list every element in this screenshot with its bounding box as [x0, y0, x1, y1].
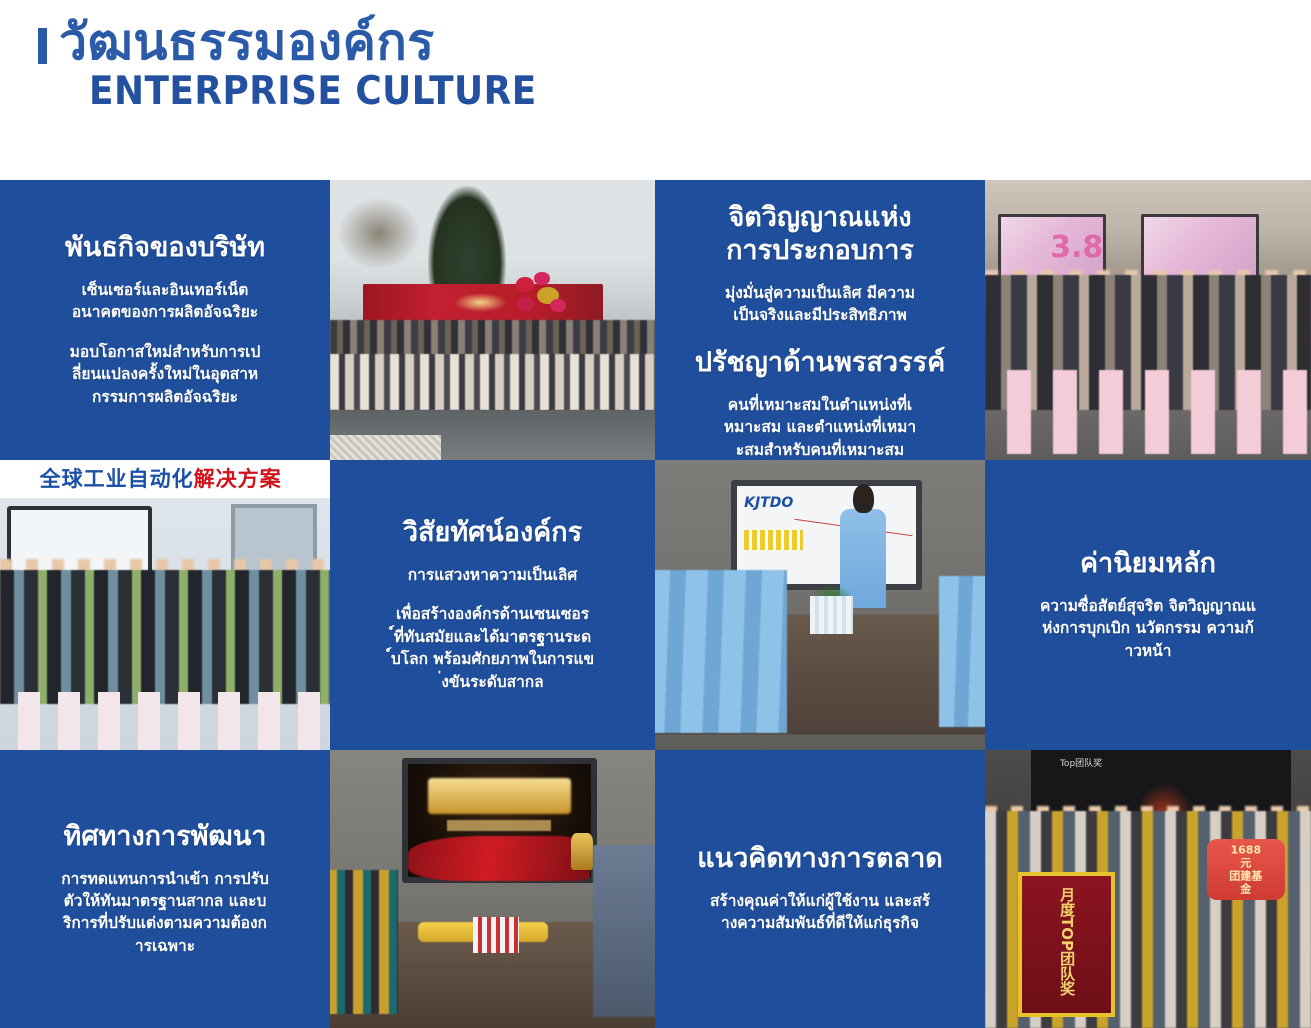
core-values-body: ความซื่อสัตย์สุจริต จิตวิญญาณแ ห่งการบุก…	[1040, 595, 1256, 662]
training-image: KJTDO	[655, 460, 985, 750]
culture-grid: พันธกิจของบริษัท เซ็นเซอร์และอินเทอร์เน็…	[0, 180, 1311, 1028]
marketing-body: สร้างคุณค่าให้แก่ผู้ใช้งาน และสร้ างความ…	[710, 890, 930, 935]
photo-award-pennant: 月度TOP团队奖	[1018, 872, 1116, 1017]
womens-day-image: 3.8	[985, 180, 1311, 460]
page-title-english: ENTERPRISE CULTURE	[89, 72, 537, 113]
photo-gift-bags	[985, 370, 1311, 454]
marketing-title: แนวคิดทางการตลาด	[697, 843, 943, 876]
panel-development-direction: ทิศทางการพัฒนา การทดแทนการนำเข้า การปรับ…	[0, 750, 330, 1028]
photo-screen-logo: KJTDO	[744, 495, 793, 511]
photo-banner-text: 全球工业自动化解决方案	[40, 463, 282, 493]
photo-screen-products	[744, 530, 803, 550]
photo-people-left	[330, 870, 398, 1015]
photo-people	[0, 570, 330, 703]
development-title: ทิศทางการพัฒนา	[64, 821, 267, 854]
photo-trophy	[571, 833, 594, 869]
photo-gift-bags	[0, 692, 330, 750]
photo-birthday: 全球工业自动化解决方案	[0, 460, 330, 750]
header-titles: วัฒนธรรมองค์กร ENTERPRISE CULTURE	[59, 14, 576, 113]
panel-entrepreneurial-spirit: จิตวิญญาณแห่ง การประกอบการ มุ่งมั่นสู่คว…	[655, 180, 985, 460]
award-ceremony-image	[330, 750, 655, 1028]
vision-title: วิสัยทัศน์องค์กร	[403, 517, 582, 550]
page-header: วัฒนธรรมองค์กร ENTERPRISE CULTURE	[0, 0, 1311, 180]
photo-gravel	[330, 435, 441, 460]
pennant-text: 月度TOP团队奖	[1058, 887, 1075, 996]
page-title-thai: วัฒนธรรมองค์กร	[59, 14, 576, 70]
enterprise-culture-page: วัฒนธรรมองค์กร ENTERPRISE CULTURE พันธกิ…	[0, 0, 1311, 1028]
photo-team-award: Top团队奖 月度TOP团队奖 1688元 团建基金	[985, 750, 1311, 1028]
spirit-title: จิตวิญญาณแห่ง การประกอบการ	[726, 202, 914, 268]
mission-title: พันธกิจของบริษัท	[65, 232, 265, 265]
photo-screen-label: Top团队奖	[1060, 756, 1102, 769]
photo-group-2023	[330, 180, 655, 460]
photo-bush	[337, 197, 422, 270]
panel-marketing-concept: แนวคิดทางการตลาด สร้างคุณค่าให้แก่ผู้ใช้…	[655, 750, 985, 1028]
panel-company-mission: พันธกิจของบริษัท เซ็นเซอร์และอินเทอร์เน็…	[0, 180, 330, 460]
photo-attendees-left	[655, 570, 787, 732]
panel-core-values: ค่านิยมหลัก ความซื่อสัตย์สุจริต จิตวิญญา…	[985, 460, 1311, 750]
team-award-image: Top团队奖 月度TOP团队奖 1688元 团建基金	[985, 750, 1311, 1028]
photo-screen-subtitle	[447, 820, 551, 831]
talent-philosophy-body: คนที่เหมาะสมในตำแหน่งที่เ หมาะสม และตำแห…	[724, 394, 916, 460]
banner-text-red: 解决方案	[194, 467, 282, 491]
photo-womens-day: 3.8	[985, 180, 1311, 460]
group-photo-image	[330, 180, 655, 460]
photo-red-silk	[408, 836, 590, 880]
photo-training: KJTDO	[655, 460, 985, 750]
photo-screen-text: 3.8	[1050, 230, 1103, 265]
core-values-title: ค่านิยมหลัก	[1080, 548, 1216, 581]
photo-screen-title-glow	[428, 778, 571, 814]
photo-crowd-front	[330, 354, 655, 410]
vision-body-2: เพื่อสร้างองค์กรด้านเซนเซอร ์ที่ทันสมัยแ…	[391, 603, 594, 693]
photo-bottles	[473, 917, 519, 953]
photo-award-ceremony	[330, 750, 655, 1028]
banner-text-blue: 全球工业自动化	[40, 467, 194, 491]
photo-bonus-plaque: 1688元 团建基金	[1207, 839, 1285, 900]
spirit-body: มุ่งมั่นสู่ความเป็นเลิศ มีความ เป็นจริงแ…	[725, 282, 915, 327]
photo-people-right	[593, 845, 655, 1017]
mission-body-1: เซ็นเซอร์และอินเทอร์เน็ต อนาคตของการผลิต…	[72, 279, 258, 324]
panel-corporate-vision: วิสัยทัศน์องค์กร การแสวงหาความเป็นเลิศ เ…	[330, 460, 655, 750]
development-body: การทดแทนการนำเข้า การปรับ ตัวให้ทันมาตรฐ…	[61, 868, 269, 958]
plaque-text: 1688元 团建基金	[1226, 843, 1265, 896]
mission-body-2: มอบโอกาสใหม่สำหรับการเป ลี่ยนแปลงครั้งให…	[70, 341, 261, 408]
vision-body-1: การแสวงหาความเป็นเลิศ	[408, 564, 577, 586]
title-accent-bar-icon	[38, 28, 47, 64]
birthday-image: 全球工业自动化解决方案	[0, 460, 330, 750]
photo-bottles	[810, 596, 853, 634]
photo-attendees-right	[939, 576, 985, 727]
header-inner: วัฒนธรรมองค์กร ENTERPRISE CULTURE	[38, 14, 576, 113]
talent-philosophy-title: ปรัชญาด้านพรสวรรค์	[695, 347, 945, 380]
